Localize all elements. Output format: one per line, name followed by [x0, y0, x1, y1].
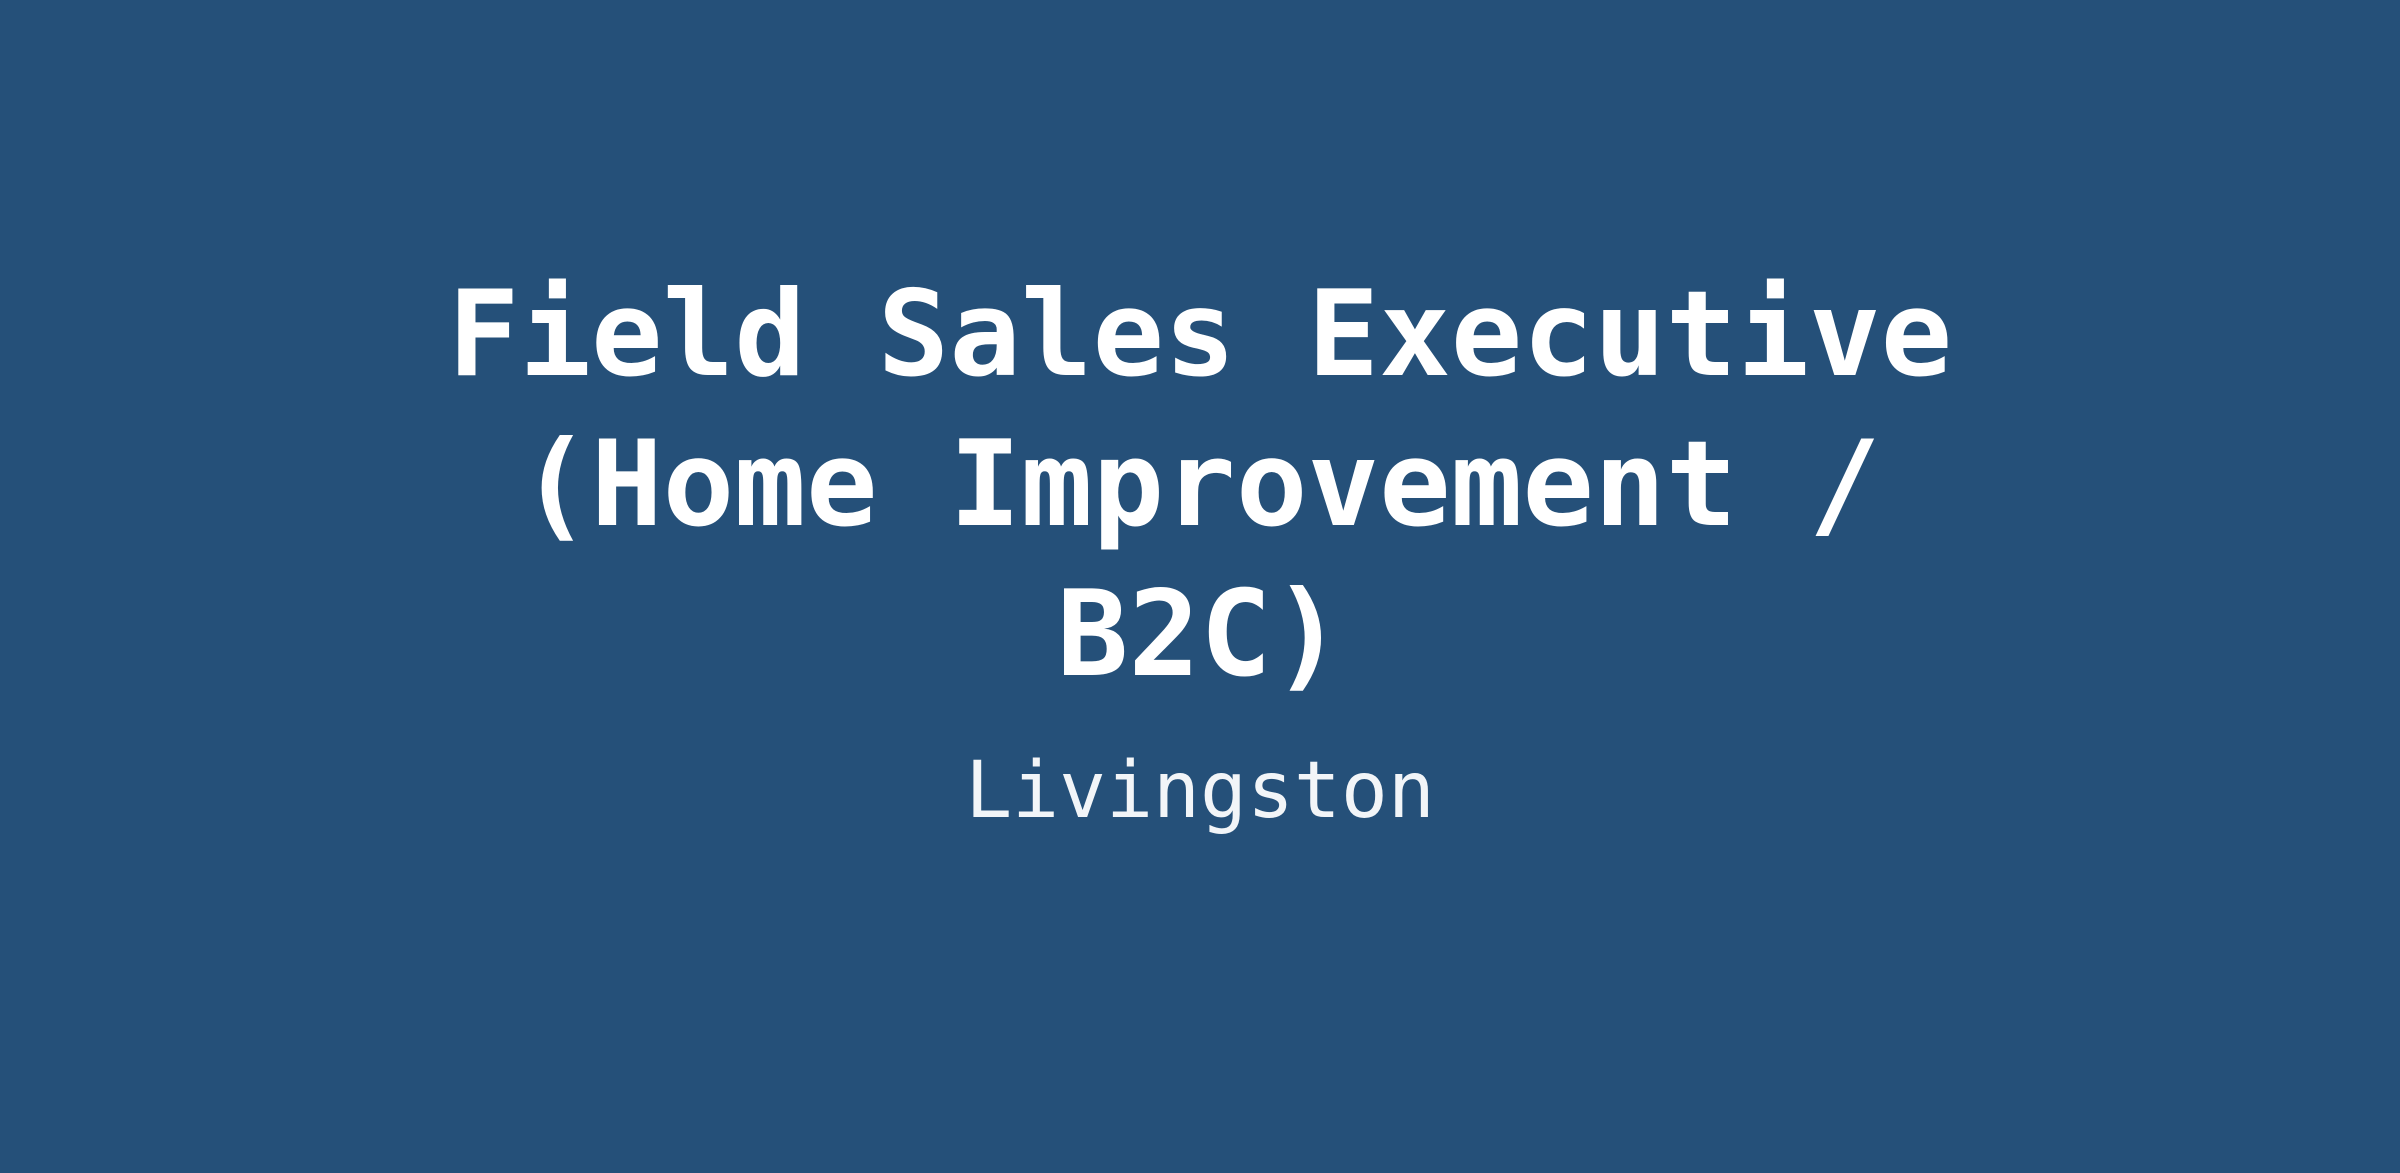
card-content: Field Sales Executive (Home Improvement …	[0, 261, 2400, 838]
job-location: Livingston	[965, 745, 1435, 839]
job-share-card: Field Sales Executive (Home Improvement …	[0, 0, 2400, 1173]
job-title: Field Sales Executive (Home Improvement …	[440, 261, 1960, 711]
